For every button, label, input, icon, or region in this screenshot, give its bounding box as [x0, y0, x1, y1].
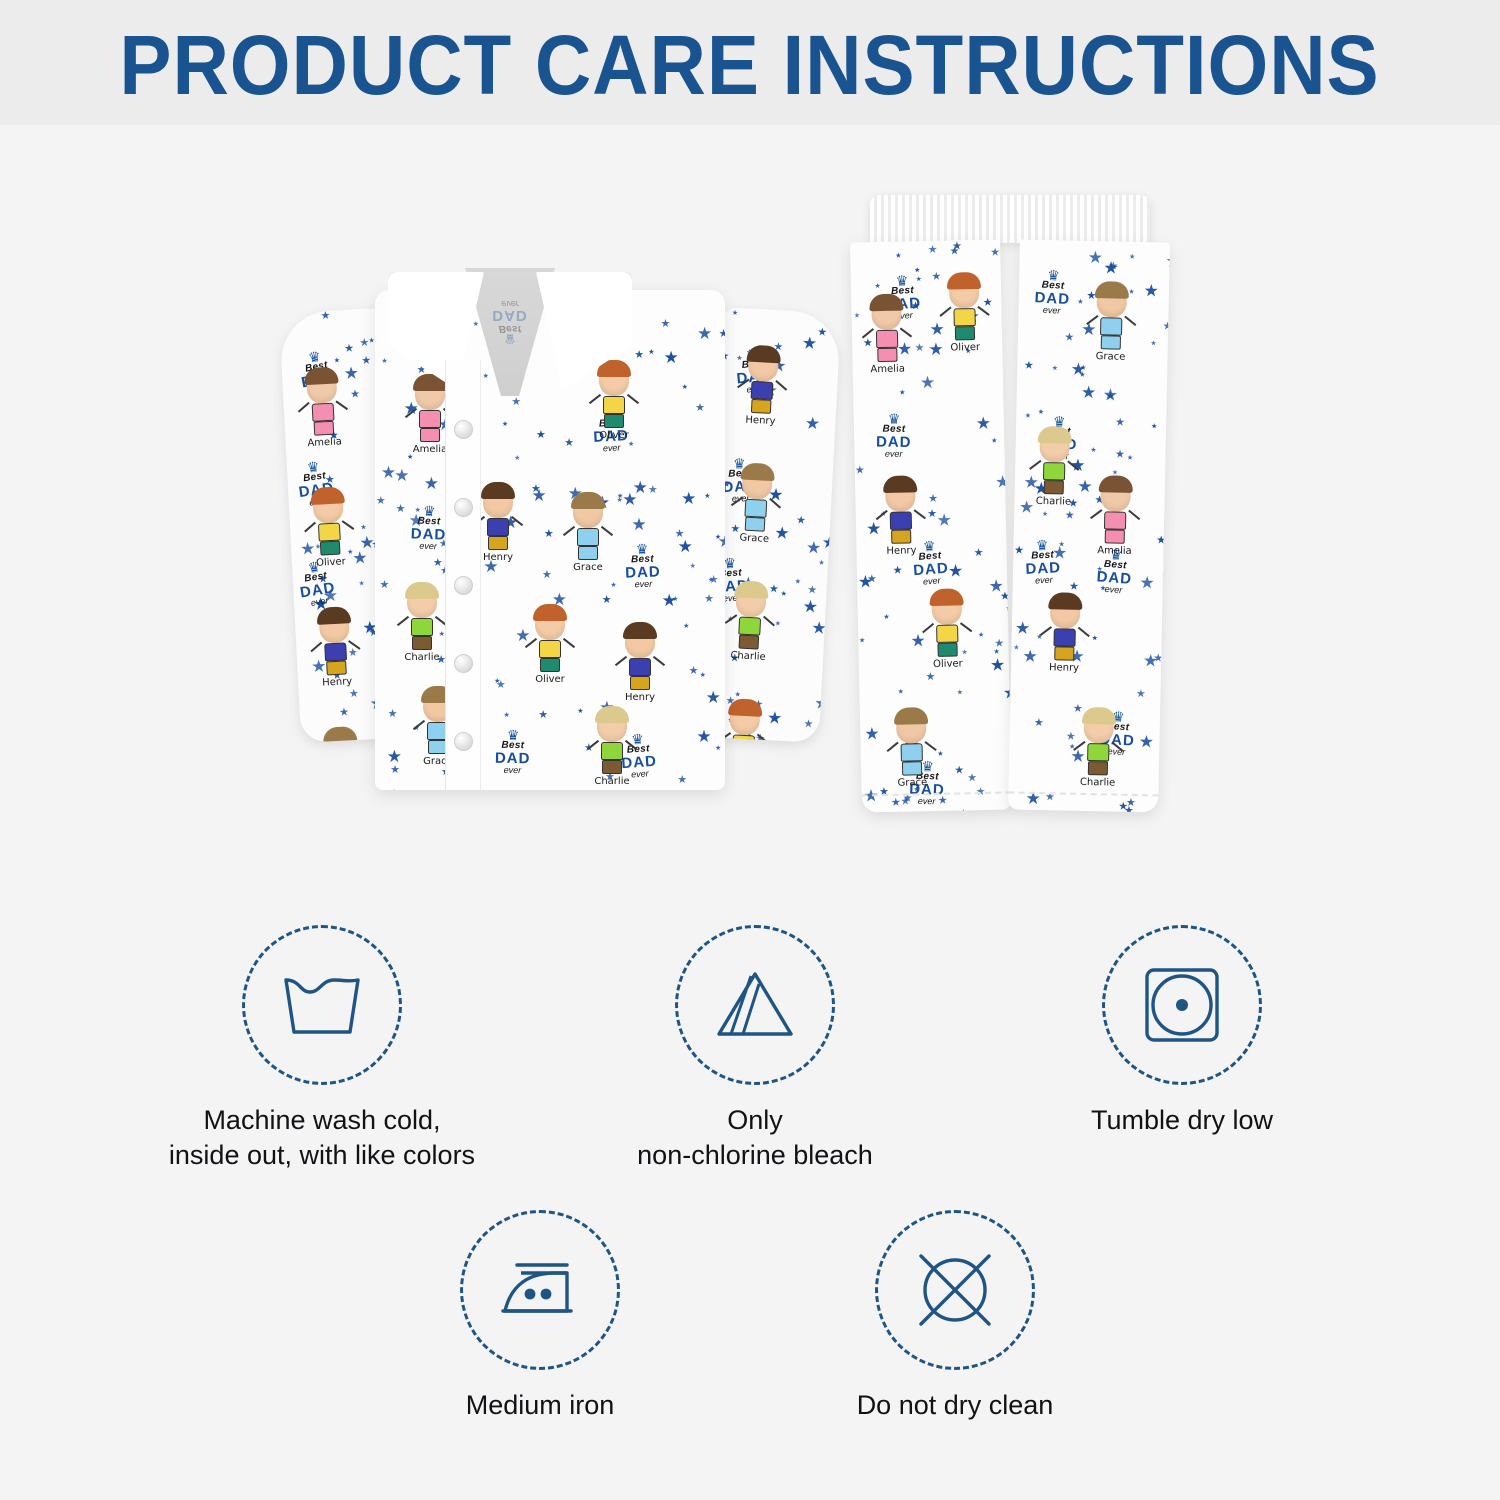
best-dad-ever-badge: ♛BestDADever [876, 414, 912, 460]
shirt-button[interactable] [454, 498, 473, 517]
star-icon: ★ [349, 689, 359, 701]
kid-shorts [602, 760, 622, 774]
kid-arm [525, 638, 537, 648]
star-icon: ★ [660, 319, 670, 330]
kid-arm [725, 614, 738, 624]
star-icon: ★ [928, 245, 938, 256]
star-icon: ★ [1052, 365, 1058, 372]
star-icon: ★ [1015, 619, 1031, 636]
kid-name-label: Grace [1083, 351, 1137, 363]
star-icon: ★ [433, 558, 443, 569]
star-icon: ★ [648, 485, 658, 496]
star-icon: ★ [514, 455, 520, 462]
care-icon-ring [1102, 925, 1262, 1085]
care-label: Machine wash cold, inside out, with like… [152, 1103, 492, 1172]
pajama-pants: ★★★★★★★★★★★★★★★★★★★★★★★★★★★★★★★★★★★★★★★★… [800, 185, 1220, 845]
kid-shirt [324, 642, 347, 661]
star-icon: ★ [424, 475, 439, 492]
star-icon: ★ [1143, 652, 1159, 669]
kid-character: Henry [1037, 596, 1093, 674]
kid-shirt [876, 330, 898, 348]
kid-shirt [601, 742, 623, 760]
kid-shorts [412, 636, 432, 650]
star-icon: ★ [700, 672, 706, 679]
kid-arm [563, 638, 575, 648]
kid-arm [342, 520, 355, 530]
kid-hair [595, 706, 629, 723]
kid-arm [757, 734, 769, 743]
kid-character: Grace [561, 496, 615, 573]
kid-arm [1128, 510, 1140, 520]
kid-character: Amelia [294, 370, 352, 450]
care-symbols-grid: Machine wash cold, inside out, with like… [0, 885, 1500, 1500]
kid-shirt [936, 624, 958, 642]
star-icon: ★ [864, 725, 880, 742]
star-icon: ★ [967, 774, 977, 785]
kid-arm [900, 327, 912, 337]
star-icon: ★ [648, 349, 654, 356]
kid-arm [413, 720, 425, 730]
star-icon: ★ [936, 512, 952, 529]
kid-shorts [326, 660, 347, 675]
star-icon: ★ [388, 709, 398, 720]
kid-shirt [629, 658, 651, 676]
kid-shorts [1101, 335, 1121, 349]
badge-dad: DAD [492, 308, 528, 323]
star-icon: ★ [536, 430, 546, 441]
star-icon: ★ [503, 712, 509, 719]
kid-arm [763, 616, 775, 627]
star-icon: ★ [780, 590, 787, 597]
kid-shorts [902, 761, 922, 775]
header-band: PRODUCT CARE INSTRUCTIONS [0, 0, 1500, 125]
star-icon: ★ [564, 438, 574, 449]
star-icon: ★ [928, 494, 938, 505]
star-icon: ★ [989, 578, 1005, 595]
kid-character: Grace [727, 466, 785, 546]
badge-ever: ever [876, 450, 912, 459]
star-icon: ★ [677, 775, 687, 786]
kid-shorts [745, 517, 766, 532]
shirt-button[interactable] [454, 654, 473, 673]
kid-character: Oliver [587, 364, 641, 441]
kid-shirt [539, 640, 561, 658]
kid-arm [310, 642, 322, 653]
kid-name-label: Grace [561, 562, 615, 573]
pajama-shirt: ★★★★★★★★★★★★★★★★★★★★★★★★★★★★★★★★★★★★★★★★… [280, 250, 840, 810]
kid-arm [615, 656, 627, 666]
star-icon: ★ [893, 566, 903, 577]
fabric-pattern-pants-left: ★★★★★★★★★★★★★★★★★★★★★★★★★★★★★★★★★★★★★★★★… [850, 239, 1012, 812]
shirt-button[interactable] [454, 420, 473, 439]
kid-arm [1078, 627, 1090, 637]
star-icon: ★ [361, 356, 371, 368]
kid-shorts [320, 541, 341, 556]
star-icon: ★ [682, 384, 688, 391]
kid-shirt [732, 734, 755, 742]
pants-waistband [870, 195, 1150, 243]
product-image: ★★★★★★★★★★★★★★★★★★★★★★★★★★★★★★★★★★★★★★★★… [0, 125, 1500, 885]
star-icon: ★ [683, 623, 689, 630]
kid-character: Oliver [300, 490, 358, 570]
kid-character: Charlie [1071, 711, 1127, 789]
kid-arm [876, 510, 888, 520]
star-icon: ★ [1151, 423, 1157, 430]
wash-basin-icon [280, 968, 364, 1042]
star-icon: ★ [1162, 321, 1169, 332]
kid-character: Charlie [1026, 430, 1082, 508]
kid-shorts [751, 399, 772, 414]
star-icon: ★ [1150, 340, 1156, 347]
star-icon: ★ [602, 595, 612, 606]
care-icon-ring [675, 925, 835, 1085]
kid-arm [405, 408, 417, 418]
pants-leg-right: ★★★★★★★★★★★★★★★★★★★★★★★★★★★★★★★★★★★★★★★★… [1008, 239, 1170, 812]
star-icon: ★ [394, 467, 409, 484]
star-icon: ★ [706, 689, 721, 706]
kid-arm [589, 394, 601, 404]
star-icon: ★ [874, 283, 880, 290]
kid-hair [623, 622, 657, 639]
fabric-pattern-pants-right: ★★★★★★★★★★★★★★★★★★★★★★★★★★★★★★★★★★★★★★★★… [1008, 239, 1170, 812]
best-dad-ever-badge: ♛BestDADever [1024, 539, 1062, 586]
star-icon: ★ [396, 504, 406, 515]
kid-shorts [1054, 646, 1074, 660]
star-icon: ★ [344, 344, 354, 356]
kid-shirt [1053, 628, 1075, 646]
kid-name-label: Oliver [523, 674, 577, 685]
star-icon: ★ [734, 691, 741, 698]
star-icon: ★ [1022, 648, 1038, 665]
kid-hair [734, 580, 769, 599]
star-icon: ★ [380, 580, 390, 591]
star-icon: ★ [1079, 372, 1085, 379]
kid-arm [653, 656, 665, 666]
star-icon: ★ [990, 248, 1000, 259]
star-icon: ★ [1088, 249, 1104, 266]
star-icon: ★ [1038, 409, 1044, 416]
star-icon: ★ [390, 765, 400, 776]
kid-character: Oliver [919, 592, 975, 670]
kid-arm [914, 509, 926, 519]
best-dad-ever-badge: ♛BestDADever [410, 505, 447, 551]
star-icon: ★ [376, 496, 386, 507]
kid-arm [769, 498, 781, 509]
kid-arm [939, 306, 951, 316]
kid-shorts [1088, 761, 1108, 775]
kid-shirt [1043, 462, 1065, 480]
star-icon: ★ [957, 689, 963, 696]
kid-arm [397, 616, 409, 626]
kid-shorts [578, 546, 598, 560]
star-icon: ★ [974, 548, 984, 559]
star-icon: ★ [991, 437, 997, 444]
star-icon: ★ [925, 671, 935, 682]
kid-arm [977, 306, 989, 316]
star-icon: ★ [956, 807, 972, 812]
kid-arm [1029, 460, 1041, 470]
star-icon: ★ [1162, 571, 1170, 582]
kid-arm [1067, 460, 1079, 470]
star-icon: ★ [1143, 282, 1159, 299]
kid-name-label: Oliver [921, 658, 975, 670]
star-icon: ★ [704, 493, 710, 500]
kid-shirt [953, 308, 975, 326]
care-item-tumble-dry: Tumble dry low [1012, 925, 1352, 1138]
star-icon: ★ [697, 325, 712, 342]
kid-character: Henry [613, 626, 667, 703]
star-icon: ★ [954, 766, 964, 777]
bleach-triangle-icon [713, 968, 797, 1042]
badge-dad: DAD [495, 751, 531, 767]
kid-hair [883, 475, 917, 493]
star-icon: ★ [976, 415, 992, 432]
star-icon: ★ [995, 473, 1011, 490]
star-icon: ★ [914, 267, 920, 274]
kid-name-label: Charlie [1026, 496, 1080, 508]
care-item-no-dry-clean: Do not dry clean [785, 1210, 1125, 1423]
kid-name-label: Amelia [1087, 545, 1141, 557]
care-icon-ring [242, 925, 402, 1085]
kid-arm [731, 496, 744, 506]
kid-character: Henry [873, 479, 929, 557]
kid-hair [323, 726, 358, 743]
star-icon: ★ [616, 497, 622, 504]
kid-arm [960, 622, 972, 632]
kid-shirt [419, 410, 441, 428]
kid-character: Grace [884, 711, 940, 789]
kid-shorts [488, 536, 508, 550]
star-icon: ★ [1064, 332, 1074, 343]
star-icon: ★ [948, 562, 964, 579]
kid-hair [405, 582, 439, 599]
star-icon: ★ [1080, 365, 1086, 372]
care-label: Do not dry clean [785, 1388, 1125, 1423]
care-label: Medium iron [370, 1388, 710, 1423]
kid-shirt [1104, 511, 1126, 529]
badge-ever: ever [495, 766, 531, 776]
kid-shirt [744, 499, 767, 518]
star-icon: ★ [920, 374, 936, 391]
kid-shirt [312, 403, 335, 422]
star-icon: ★ [1103, 259, 1119, 276]
kid-shorts [1044, 480, 1064, 494]
star-icon: ★ [1006, 605, 1012, 612]
star-icon: ★ [358, 581, 365, 588]
star-icon: ★ [483, 373, 489, 380]
kid-name-label: Oliver [938, 342, 992, 354]
star-icon: ★ [1129, 254, 1135, 261]
kid-hair [740, 462, 775, 481]
star-icon: ★ [1160, 679, 1170, 696]
kid-shorts [314, 421, 335, 436]
care-icon-ring [875, 1210, 1035, 1370]
kid-name-label: Henry [1037, 662, 1091, 674]
kid-name-label: Oliver [587, 430, 641, 441]
no-dry-clean-icon [913, 1248, 997, 1332]
kid-shorts [955, 326, 975, 340]
star-icon: ★ [689, 666, 699, 677]
kid-name-label: Henry [733, 414, 788, 428]
kid-arm [1090, 509, 1102, 519]
star-icon: ★ [1115, 449, 1125, 460]
kid-shorts [540, 658, 560, 672]
kid-shorts [420, 428, 440, 442]
star-icon: ★ [897, 688, 903, 695]
star-icon: ★ [511, 397, 521, 408]
star-icon: ★ [952, 241, 962, 252]
kid-name-label: Amelia [297, 436, 352, 450]
star-icon: ★ [1092, 635, 1098, 642]
kid-arm [1073, 741, 1085, 751]
star-icon: ★ [542, 570, 552, 581]
star-icon: ★ [1034, 718, 1044, 729]
star-icon: ★ [1077, 299, 1083, 306]
kid-shorts [630, 676, 650, 690]
kid-shorts [604, 414, 624, 428]
star-icon: ★ [360, 524, 367, 531]
kid-name-label: Charlie [585, 776, 639, 787]
star-icon: ★ [1139, 574, 1155, 591]
star-icon: ★ [994, 639, 1004, 650]
kid-arm [1124, 316, 1136, 326]
star-icon: ★ [990, 657, 1006, 674]
kid-character: Charlie [585, 710, 639, 787]
kid-shirt [738, 617, 761, 636]
care-item-iron: Medium iron [370, 1210, 710, 1423]
kid-shirt [1087, 743, 1109, 761]
kid-name-label: Grace [727, 532, 782, 546]
tumble-dry-icon [1142, 965, 1222, 1045]
star-icon: ★ [855, 465, 865, 476]
star-icon: ★ [389, 789, 399, 790]
star-icon: ★ [631, 516, 646, 533]
kid-hair [894, 707, 928, 725]
kid-character: Charlie [721, 584, 779, 664]
kid-name-label: Charlie [395, 652, 449, 663]
star-icon: ★ [709, 575, 719, 586]
star-icon: ★ [350, 390, 360, 402]
star-icon: ★ [681, 490, 696, 507]
star-icon: ★ [678, 538, 693, 555]
kid-arm [887, 742, 899, 752]
care-label: Only non-chlorine bleach [585, 1103, 925, 1172]
care-item-machine-wash: Machine wash cold, inside out, with like… [152, 925, 492, 1172]
star-icon: ★ [339, 707, 349, 719]
star-icon: ★ [633, 479, 648, 496]
star-icon: ★ [718, 533, 725, 550]
care-icon-ring [460, 1210, 620, 1370]
star-icon: ★ [1115, 417, 1125, 428]
kid-shorts [877, 348, 897, 362]
kid-hair [533, 604, 567, 621]
star-icon: ★ [858, 573, 874, 590]
kid-arm [587, 740, 599, 750]
best-dad-ever-badge: ♛BestDADever [1034, 269, 1072, 316]
kid-name-label: Oliver [304, 556, 359, 570]
star-icon: ★ [664, 349, 679, 366]
shirt-button[interactable] [454, 576, 473, 595]
crown-icon: ♛ [492, 333, 528, 344]
star-icon: ★ [1126, 798, 1136, 809]
kid-character: Amelia [859, 297, 915, 375]
kid-arm [924, 741, 936, 751]
star-icon: ★ [387, 748, 402, 765]
star-icon: ★ [899, 390, 905, 397]
star-icon: ★ [1013, 644, 1019, 651]
kid-arm [775, 380, 787, 391]
page-title: PRODUCT CARE INSTRUCTIONS [120, 23, 1380, 107]
kid-shirt [901, 743, 923, 761]
star-icon: ★ [695, 403, 705, 414]
kid-arm [1040, 626, 1052, 636]
kid-arm [625, 740, 637, 750]
star-icon: ★ [610, 582, 616, 589]
kid-character: Henry [307, 610, 365, 690]
star-icon: ★ [696, 728, 711, 745]
star-icon: ★ [1014, 546, 1024, 557]
star-icon: ★ [715, 745, 721, 752]
kid-character: Amelia [1087, 479, 1143, 557]
star-icon: ★ [1165, 252, 1170, 269]
star-icon: ★ [502, 421, 508, 428]
star-icon: ★ [978, 632, 984, 639]
star-icon: ★ [1156, 535, 1166, 546]
shirt-button[interactable] [454, 732, 473, 751]
kid-arm [1111, 741, 1123, 751]
star-icon: ★ [662, 592, 677, 609]
kid-arm [922, 623, 934, 633]
care-item-bleach: Only non-chlorine bleach [585, 925, 925, 1172]
kid-shorts [738, 635, 759, 650]
star-icon: ★ [334, 357, 341, 364]
star-icon: ★ [719, 329, 725, 340]
kid-name-label: Henry [874, 545, 928, 557]
kid-name-label: Charlie [1071, 777, 1125, 789]
star-icon: ★ [1025, 412, 1031, 419]
care-label: Tumble dry low [1012, 1103, 1352, 1138]
kid-character: Oliver [523, 608, 577, 685]
star-icon: ★ [381, 464, 396, 481]
kid-arm [335, 400, 348, 410]
star-icon: ★ [577, 708, 583, 715]
kid-hair [1048, 592, 1082, 610]
star-icon: ★ [1090, 447, 1096, 454]
badge-best: Best [492, 323, 528, 333]
kid-shirt [1100, 317, 1122, 335]
kid-hair [571, 492, 605, 509]
star-icon: ★ [732, 310, 739, 317]
kid-arm [304, 522, 316, 533]
kid-shirt [890, 511, 912, 529]
kid-character: Henry [733, 348, 791, 428]
star-icon: ★ [538, 710, 548, 721]
star-icon: ★ [381, 358, 387, 365]
best-dad-ever-badge: ♛BestDADever [624, 543, 661, 589]
kid-shirt [603, 396, 625, 414]
kid-shorts [891, 529, 911, 543]
kid-arm [862, 328, 874, 338]
kid-name-label: Amelia [861, 363, 915, 375]
kid-shorts [1105, 529, 1125, 543]
star-icon: ★ [1069, 582, 1079, 593]
kid-shirt [577, 528, 599, 546]
badge-dad: DAD [876, 435, 912, 450]
star-icon: ★ [320, 311, 330, 323]
kid-shorts [937, 642, 957, 656]
star-icon: ★ [704, 594, 714, 605]
star-icon: ★ [1136, 689, 1146, 700]
